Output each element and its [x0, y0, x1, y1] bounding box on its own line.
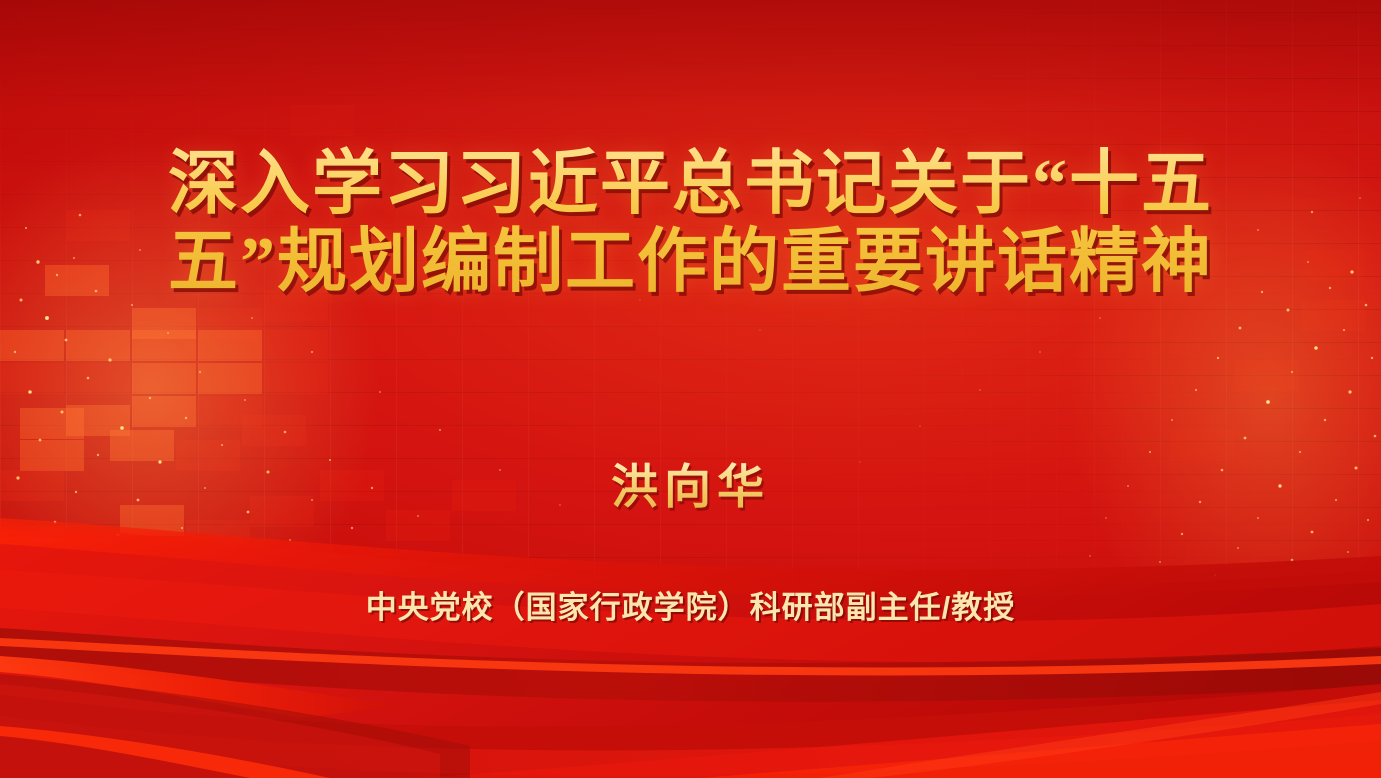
title-slide: 深入学习习近平总书记关于“十五 五”规划编制工作的重要讲话精神 洪向华 中央党校… — [0, 0, 1381, 778]
speaker-affiliation: 中央党校（国家行政学院）科研部副主任/教授 — [0, 588, 1381, 628]
page-title: 深入学习习近平总书记关于“十五 五”规划编制工作的重要讲话精神 — [0, 146, 1381, 302]
speaker-name: 洪向华 — [0, 459, 1381, 517]
silk-ribbon-waves — [0, 478, 1381, 778]
